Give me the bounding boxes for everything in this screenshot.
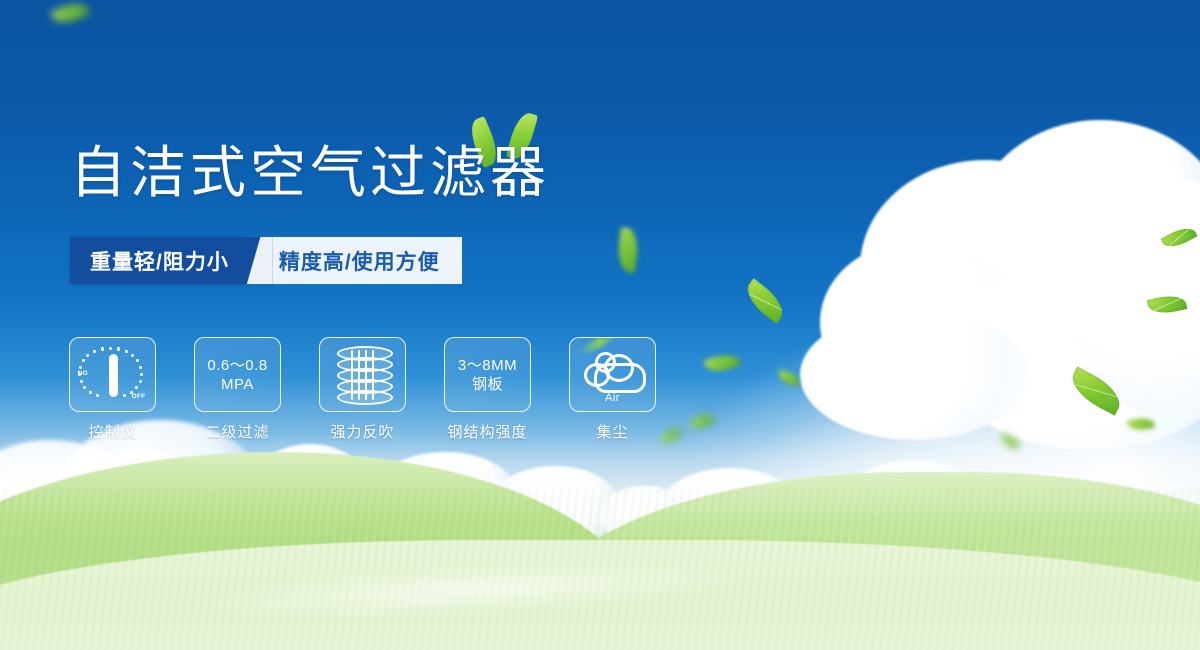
leaf-icon — [659, 424, 683, 447]
dial-needle — [109, 354, 118, 397]
horizon-cloud-row — [0, 430, 1200, 540]
feature-list: NO OFF 控制仪 0.6～0.8 MPA 二级过滤 — [70, 337, 655, 442]
feature-label: 二级过滤 — [205, 421, 269, 442]
cumulus-cloud-right — [820, 120, 1200, 450]
cloud-body-icon — [594, 363, 646, 393]
tagline-secondary: 精度高/使用方便 — [273, 237, 462, 284]
tagline-divider — [247, 237, 273, 284]
leaf-icon — [1160, 223, 1197, 252]
steel-plate-icon: 钢板 — [472, 375, 503, 394]
tagline-bar: 重量轻/阻力小 精度高/使用方便 — [70, 237, 462, 284]
dial-label-right: OFF — [132, 393, 146, 400]
bottom-glow — [0, 540, 1200, 650]
leaf-icon — [777, 370, 801, 387]
feature-label: 控制仪 — [88, 421, 136, 442]
feature-label: 钢结构强度 — [447, 421, 527, 442]
hill-foreground — [0, 540, 1200, 650]
leaf-icon — [50, 0, 90, 29]
page-title: 自洁式空气过滤器 — [70, 140, 550, 206]
low-cloud-left — [0, 420, 400, 610]
feature-item-control-dial[interactable]: NO OFF 控制仪 — [70, 337, 155, 442]
leaf-icon — [615, 227, 641, 273]
leaf-icon — [688, 410, 715, 434]
leaf-icon — [1127, 416, 1155, 432]
hill-left — [0, 452, 640, 650]
feature-label: 集尘 — [596, 421, 628, 442]
pressure-unit-text: MPA — [221, 375, 254, 394]
sky-haze — [0, 0, 1200, 650]
cloud-air-icon: Air — [582, 349, 644, 401]
control-dial-icon: NO OFF — [78, 345, 148, 405]
pressure-value-icon: 0.6～0.8 — [207, 356, 267, 375]
feature-item-steel[interactable]: 3～8MM 钢板 钢结构强度 — [445, 337, 530, 442]
leaf-icon — [703, 350, 740, 376]
leaf-icon — [999, 433, 1021, 450]
feature-item-pressure[interactable]: 0.6～0.8 MPA 二级过滤 — [195, 337, 280, 442]
tagline-primary: 重量轻/阻力小 — [70, 237, 247, 284]
steel-thickness-text: 3～8MM — [458, 356, 517, 375]
feature-label: 强力反吹 — [330, 421, 394, 442]
leaf-icon — [1147, 292, 1188, 317]
feature-icon-box — [319, 337, 406, 412]
grass-texture — [0, 490, 1200, 650]
hill-right — [540, 472, 1200, 650]
feature-icon-box: 3～8MM 钢板 — [444, 337, 531, 412]
leaf-icon — [740, 278, 790, 324]
feature-icon-box: 0.6～0.8 MPA — [194, 337, 281, 412]
feature-icon-box: NO OFF — [69, 337, 156, 412]
grass-path — [119, 542, 821, 639]
dial-label-left: NO — [78, 370, 88, 377]
air-text: Air — [582, 392, 644, 404]
feature-item-dust[interactable]: Air 集尘 — [570, 337, 655, 442]
feature-icon-box: Air — [569, 337, 656, 412]
filter-coil-icon — [337, 346, 389, 404]
leaf-icon — [1065, 366, 1127, 415]
hero-banner: 自洁式空气过滤器 重量轻/阻力小 精度高/使用方便 — [0, 0, 1200, 650]
feature-item-backblow[interactable]: 强力反吹 — [320, 337, 405, 442]
